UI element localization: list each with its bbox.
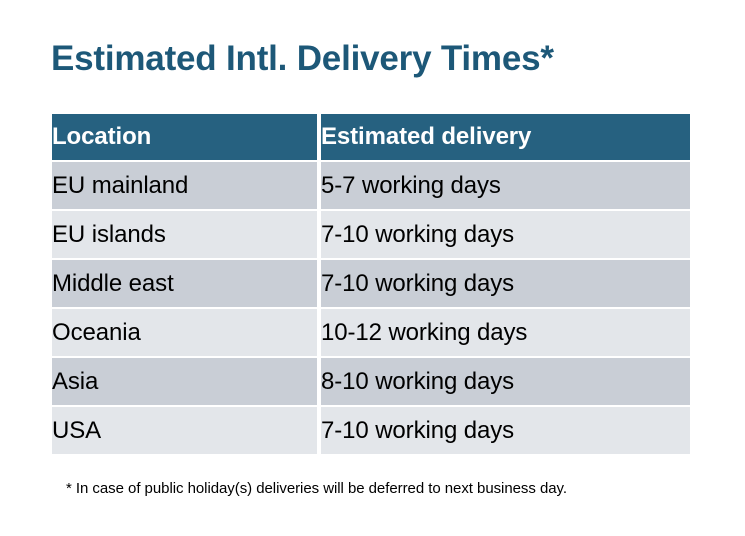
table-row: Oceania10-12 working days [52,309,690,356]
delivery-times-page: Estimated Intl. Delivery Times* Location… [0,0,745,536]
column-header-estimated-delivery: Estimated delivery [321,114,690,160]
cell-location: Asia [52,358,317,405]
cell-location: Oceania [52,309,317,356]
cell-location: USA [52,407,317,454]
cell-estimated-delivery: 8-10 working days [321,358,690,405]
delivery-times-table: Location Estimated delivery EU mainland5… [52,114,690,454]
cell-estimated-delivery: 7-10 working days [321,260,690,307]
table-row: Asia8-10 working days [52,358,690,405]
footnote-text: * In case of public holiday(s) deliverie… [66,479,567,499]
table-header: Location Estimated delivery [52,114,690,160]
cell-estimated-delivery: 10-12 working days [321,309,690,356]
table-row: EU mainland5-7 working days [52,162,690,209]
column-header-location: Location [52,114,317,160]
cell-estimated-delivery: 7-10 working days [321,407,690,454]
cell-estimated-delivery: 5-7 working days [321,162,690,209]
cell-location: EU mainland [52,162,317,209]
page-title: Estimated Intl. Delivery Times* [51,37,554,81]
table-body: EU mainland5-7 working daysEU islands7-1… [52,160,690,454]
table-header-row: Location Estimated delivery [52,114,690,160]
table-row: USA7-10 working days [52,407,690,454]
table-row: EU islands7-10 working days [52,211,690,258]
cell-location: Middle east [52,260,317,307]
table-row: Middle east7-10 working days [52,260,690,307]
cell-estimated-delivery: 7-10 working days [321,211,690,258]
cell-location: EU islands [52,211,317,258]
